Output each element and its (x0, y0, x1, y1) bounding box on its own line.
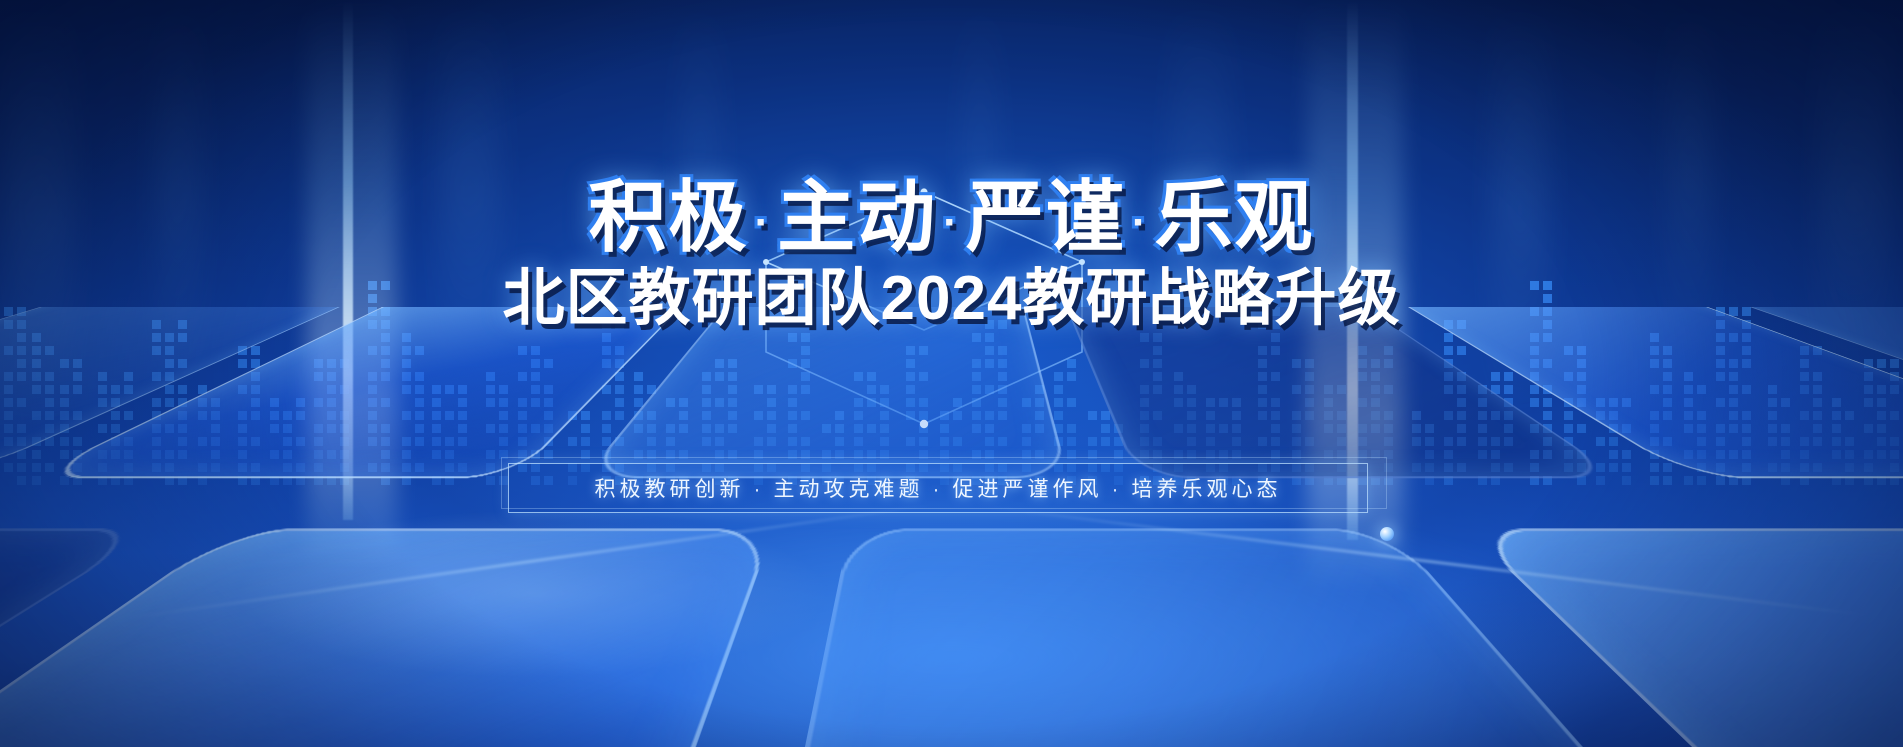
title-word-3: 严谨 (966, 173, 1126, 261)
promo-banner: 积极·主动·严谨·乐观 北区教研团队2024教研战略升级 积极教研创新·主动攻克… (0, 0, 1903, 747)
title-dot-2: · (937, 198, 966, 247)
title-dot-3: · (1126, 198, 1155, 247)
tagline-item-2: 主动攻克难题 (774, 478, 924, 501)
title-dot-1: · (749, 198, 778, 247)
page-subtitle: 北区教研团队2024教研战略升级 (0, 268, 1903, 330)
tagline-sep-2: · (924, 478, 953, 501)
title-word-2: 主动 (777, 173, 937, 261)
tagline-item-1: 积极教研创新 (595, 478, 745, 501)
tagline: 积极教研创新·主动攻克难题·促进严谨作风·培养乐观心态 (595, 473, 1282, 503)
glow-orb-icon (1380, 527, 1394, 541)
title-word-4: 乐观 (1155, 173, 1315, 261)
page-title: 积极·主动·严谨·乐观 (0, 178, 1903, 256)
tagline-sep-3: · (1103, 478, 1132, 501)
tagline-sep-1: · (745, 478, 774, 501)
banner-content: 积极·主动·严谨·乐观 北区教研团队2024教研战略升级 积极教研创新·主动攻克… (0, 0, 1903, 747)
tagline-box: 积极教研创新·主动攻克难题·促进严谨作风·培养乐观心态 (508, 463, 1368, 513)
tagline-item-3: 促进严谨作风 (953, 478, 1103, 501)
tagline-item-4: 培养乐观心态 (1132, 478, 1282, 501)
title-word-1: 积极 (588, 173, 748, 261)
